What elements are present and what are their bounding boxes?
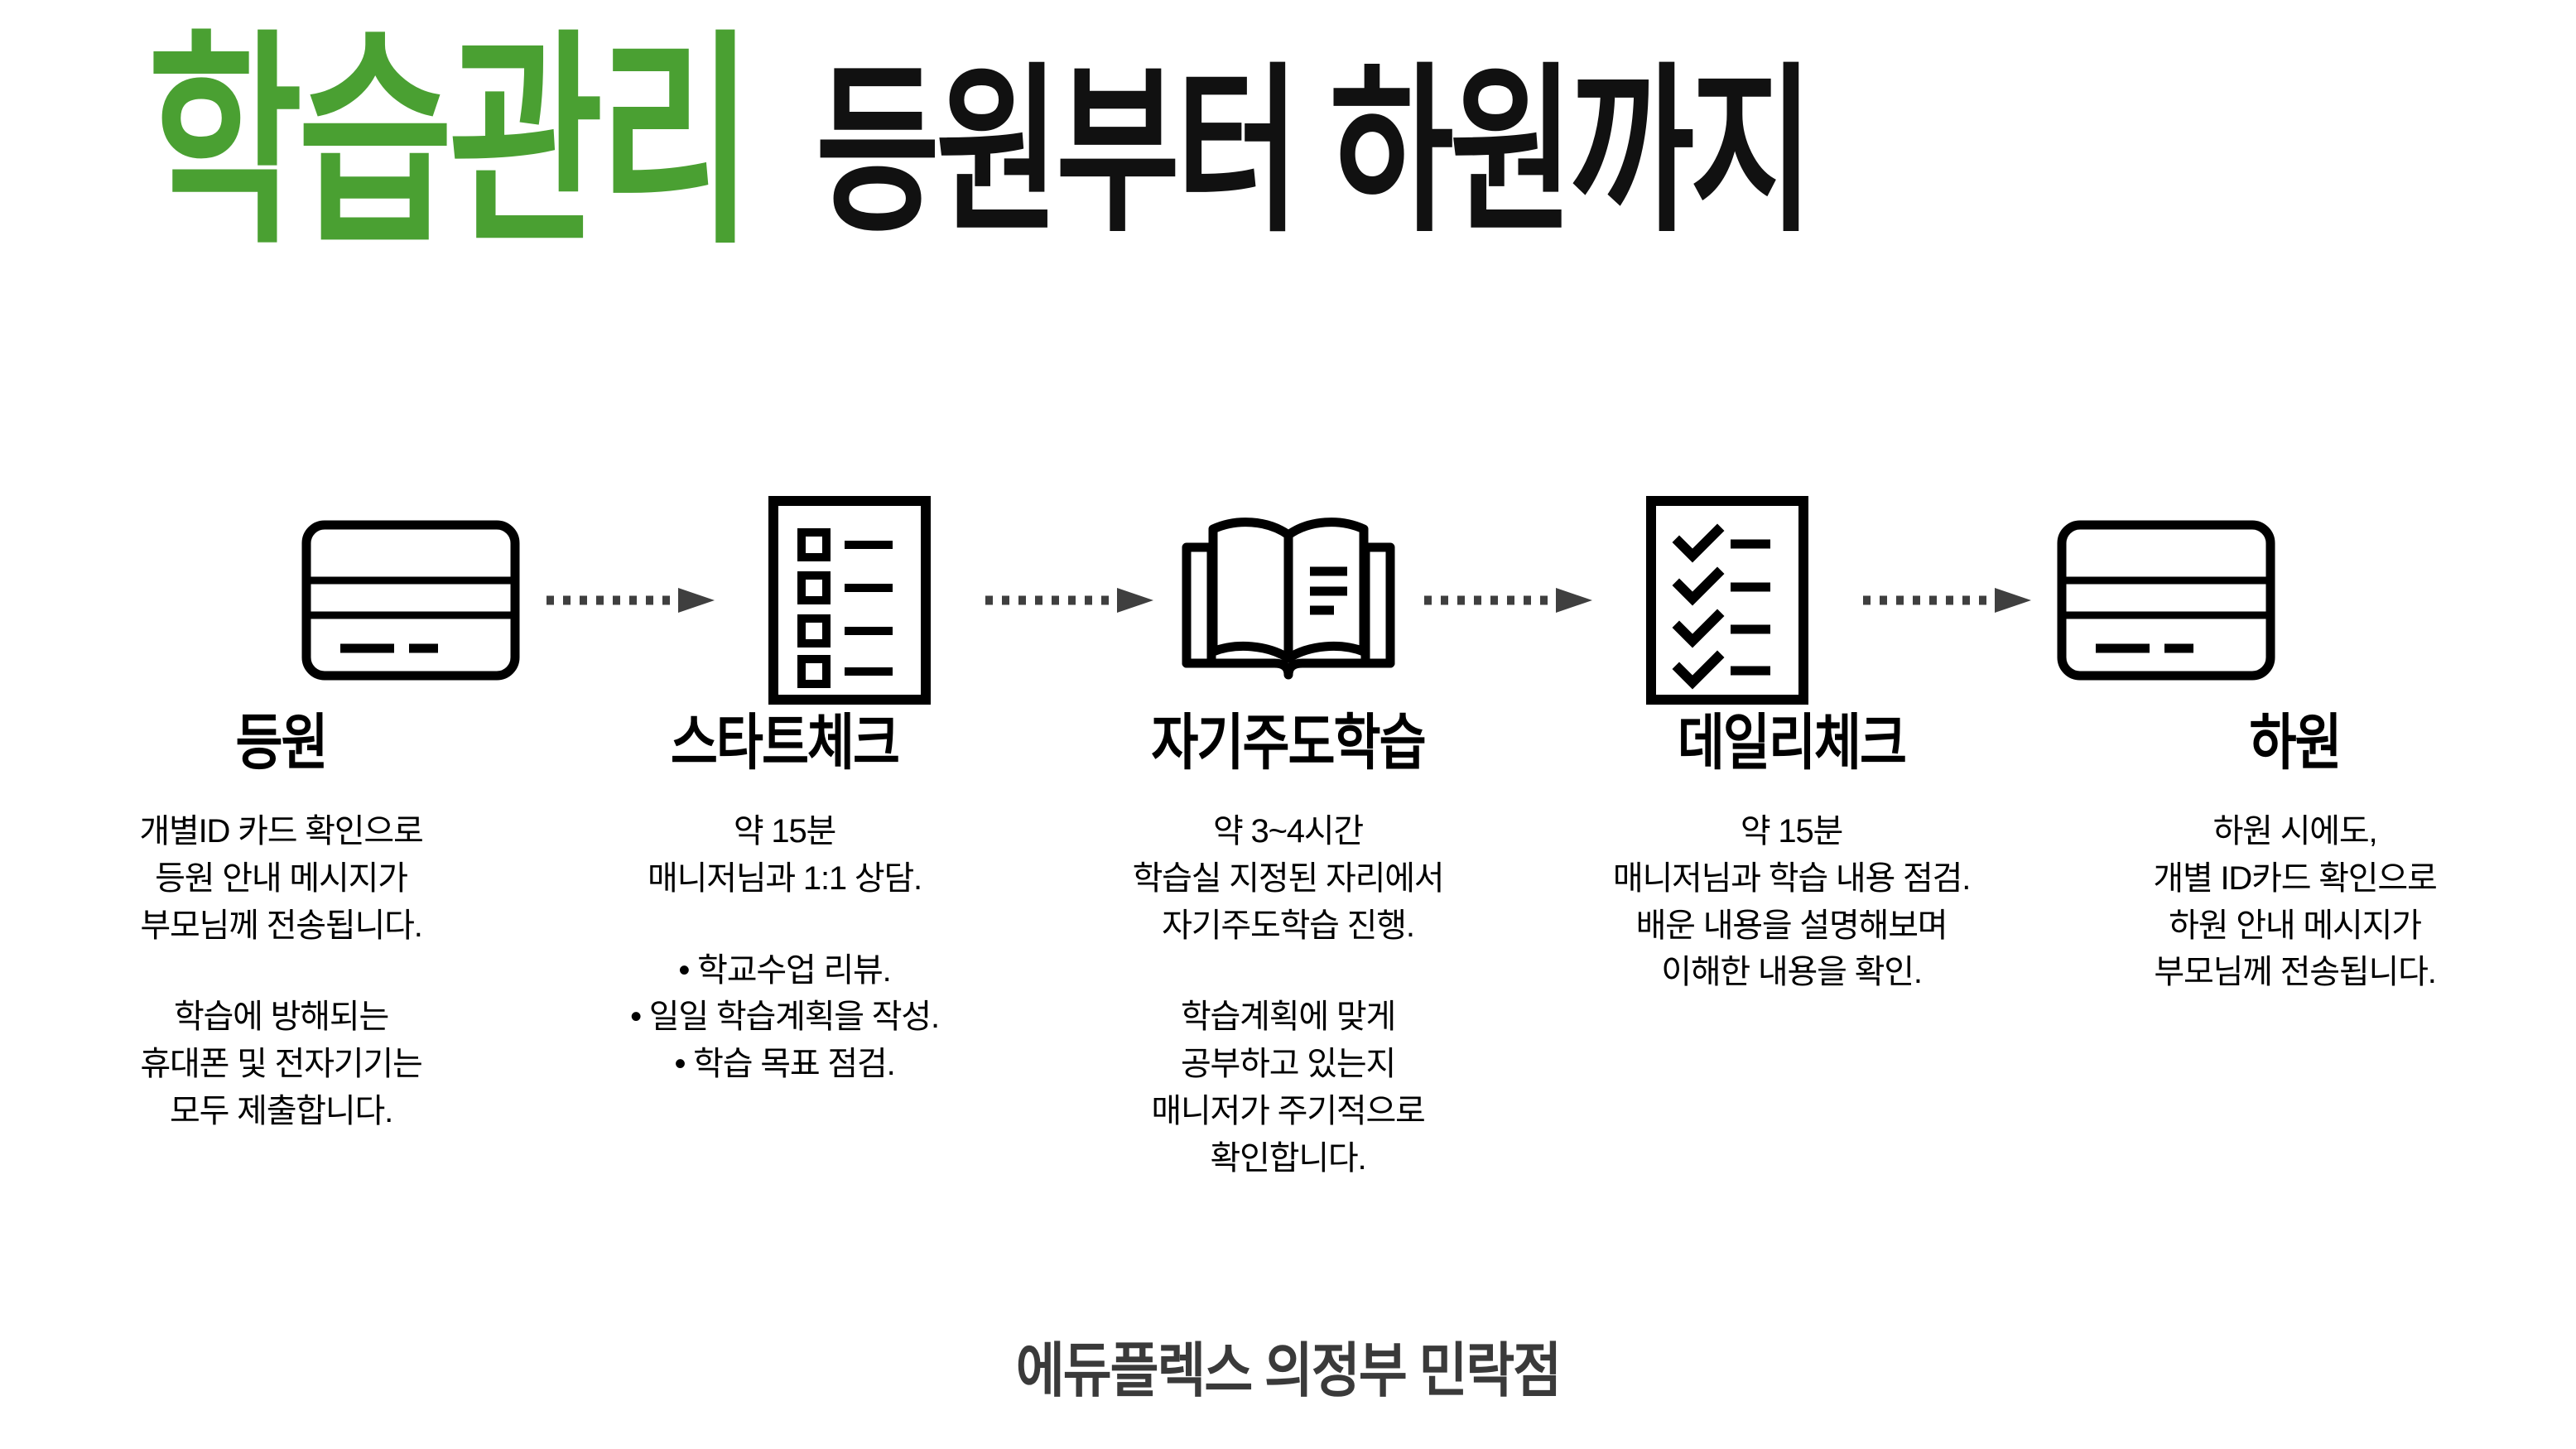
title-main-text: 학습관리: [147, 30, 749, 258]
process-flow-row: [0, 464, 2576, 737]
text-line: 학습계획에 맞게: [1069, 994, 1508, 1041]
connector-2: [974, 584, 1164, 617]
step-paragraph-5-1: 하원 시에도, 개별 ID카드 확인으로 하원 안내 메시지가 부모님께 전송됩…: [2076, 808, 2515, 996]
text-line: 약 15분: [566, 808, 1004, 855]
step-paragraph-4-1: 약 15분 매니저님과 학습 내용 점검. 배운 내용을 설명해보며 이해한 내…: [1572, 808, 2011, 996]
footer-brand-text: 에듀플렉스 의정부 민락점: [0, 1323, 2576, 1408]
checkbox-list-document-icon: [767, 494, 932, 706]
step-paragraph-1-2: 학습에 방해되는 휴대폰 및 전자기기는 모두 제출합니다.: [62, 994, 501, 1134]
id-card-icon: [2054, 517, 2278, 683]
text-line: 매니저님과 1:1 상담.: [566, 855, 1004, 903]
step-heading-4: 데일리체크: [1572, 714, 2011, 774]
text-line: 약 15분: [1572, 808, 2011, 855]
text-line: 이해한 내용을 확인.: [1572, 949, 2011, 996]
bullet-item: • 일일 학습계획을 작성.: [566, 994, 1004, 1041]
text-line: 등원 안내 메시지가: [62, 855, 501, 903]
bullet-item: • 학교수업 리뷰.: [566, 947, 1004, 994]
step-paragraph-1-1: 개별ID 카드 확인으로 등원 안내 메시지가 부모님께 전송됩니다.: [62, 808, 501, 949]
step-heading-2: 스타트체크: [566, 714, 1004, 774]
text-line: 학습에 방해되는: [62, 994, 501, 1041]
text-line: 하원 안내 메시지가: [2076, 903, 2515, 950]
bullet-item: • 학습 목표 점검.: [566, 1041, 1004, 1088]
text-line: 매니저가 주기적으로: [1069, 1088, 1508, 1135]
flow-node-4: [1603, 476, 1851, 724]
title-sub-text: 등원부터 하원까지: [816, 61, 1810, 242]
open-book-icon: [1177, 513, 1400, 688]
text-line: 부모님께 전송됩니다.: [2076, 949, 2515, 996]
flow-node-5: [2042, 476, 2290, 724]
checkmark-list-document-icon: [1644, 494, 1810, 706]
step-heading-1: 등원: [62, 714, 501, 774]
text-line: 배운 내용을 설명해보며: [1572, 903, 2011, 950]
text-line: 개별 ID카드 확인으로: [2076, 855, 2515, 903]
flow-node-2: [725, 476, 974, 724]
connector-3: [1413, 584, 1603, 617]
text-line: 자기주도학습 진행.: [1069, 903, 1508, 950]
step-column-5: 하원 하원 시에도, 개별 ID카드 확인으로 하원 안내 메시지가 부모님께 …: [2076, 714, 2515, 996]
page-title: 학습관리 등원부터 하원까지: [0, 30, 2576, 245]
text-line: 하원 시에도,: [2076, 808, 2515, 855]
step-column-2: 스타트체크 약 15분 매니저님과 1:1 상담. • 학교수업 리뷰. • 일…: [566, 714, 1004, 1088]
step-detail-columns: 등원 개별ID 카드 확인으로 등원 안내 메시지가 부모님께 전송됩니다. 학…: [0, 714, 2576, 1182]
step-column-1: 등원 개별ID 카드 확인으로 등원 안내 메시지가 부모님께 전송됩니다. 학…: [62, 714, 501, 1135]
step-heading-3: 자기주도학습: [1069, 714, 1508, 774]
text-line: 부모님께 전송됩니다.: [62, 903, 501, 950]
text-line: 학습실 지정된 자리에서: [1069, 855, 1508, 903]
step-paragraph-2-1: 약 15분 매니저님과 1:1 상담.: [566, 808, 1004, 903]
id-card-icon: [299, 517, 522, 683]
flow-node-3: [1164, 476, 1413, 724]
text-line: 개별ID 카드 확인으로: [62, 808, 501, 855]
text-line: 약 3~4시간: [1069, 808, 1508, 855]
step-column-4: 데일리체크 약 15분 매니저님과 학습 내용 점검. 배운 내용을 설명해보며…: [1572, 714, 2011, 996]
text-line: 휴대폰 및 전자기기는: [62, 1041, 501, 1088]
step-column-3: 자기주도학습 약 3~4시간 학습실 지정된 자리에서 자기주도학습 진행. 학…: [1069, 714, 1508, 1182]
step-paragraph-3-2: 학습계획에 맞게 공부하고 있는지 매니저가 주기적으로 확인합니다.: [1069, 994, 1508, 1182]
connector-1: [535, 584, 725, 617]
connector-4: [1851, 584, 2042, 617]
text-line: 매니저님과 학습 내용 점검.: [1572, 855, 2011, 903]
text-line: 모두 제출합니다.: [62, 1088, 501, 1135]
text-line: 공부하고 있는지: [1069, 1041, 1508, 1088]
step-heading-5: 하원: [2076, 714, 2515, 774]
step-bullet-list-2: • 학교수업 리뷰. • 일일 학습계획을 작성. • 학습 목표 점검.: [566, 947, 1004, 1088]
flow-node-1: [286, 476, 535, 724]
step-paragraph-3-1: 약 3~4시간 학습실 지정된 자리에서 자기주도학습 진행.: [1069, 808, 1508, 949]
text-line: 확인합니다.: [1069, 1135, 1508, 1182]
